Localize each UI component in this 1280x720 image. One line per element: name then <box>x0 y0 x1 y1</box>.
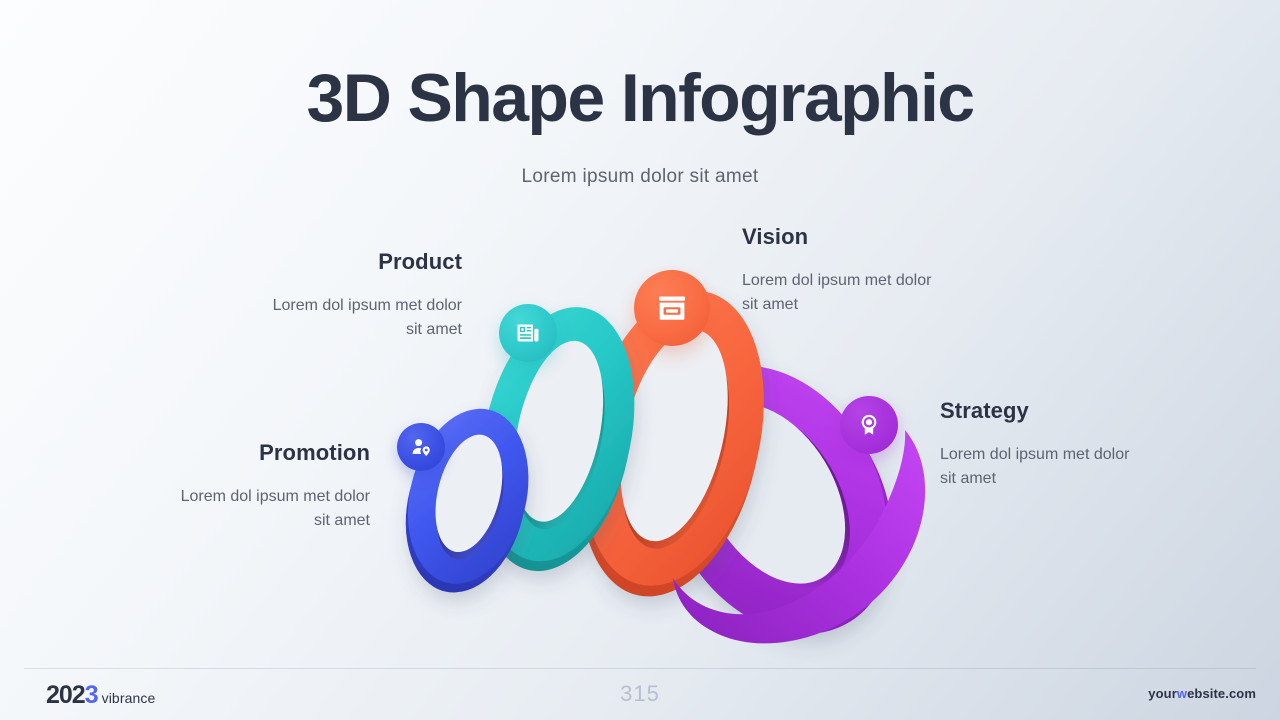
badge-product[interactable] <box>499 304 557 362</box>
callout-product-body: Lorem dol ipsum met dolor sit amet <box>122 294 462 342</box>
page-subtitle: Lorem ipsum dolor sit amet <box>0 163 1280 191</box>
page-title: 3D Shape Infographic <box>0 58 1280 138</box>
badge-vision[interactable] <box>634 270 710 346</box>
award-ribbon-icon <box>855 411 883 439</box>
callout-product-title: Product <box>122 248 462 276</box>
callout-promotion-body: Lorem dol ipsum met dolor sit amet <box>30 485 370 533</box>
website-url[interactable]: yourwebsite.com <box>1148 686 1256 701</box>
callout-strategy: Strategy Lorem dol ipsum met dolor sit a… <box>940 397 1240 491</box>
newspaper-icon <box>514 319 542 347</box>
callout-vision: Vision Lorem dol ipsum met dolor sit ame… <box>742 223 1032 317</box>
callout-promotion: Promotion Lorem dol ipsum met dolor sit … <box>30 439 370 533</box>
callout-strategy-title: Strategy <box>940 397 1240 425</box>
callout-promotion-title: Promotion <box>30 439 370 467</box>
footer-divider <box>24 668 1256 669</box>
callout-vision-body: Lorem dol ipsum met dolor sit amet <box>742 269 1032 317</box>
page-number: 315 <box>0 681 1280 707</box>
ring-product-front-arc <box>483 360 592 574</box>
store-icon <box>654 290 690 326</box>
website-prefix: your <box>1148 686 1177 701</box>
website-suffix: ebsite.com <box>1187 686 1256 701</box>
callout-product: Product Lorem dol ipsum met dolor sit am… <box>122 248 462 342</box>
user-location-icon <box>409 435 433 459</box>
ring-product <box>458 293 657 585</box>
callout-strategy-body: Lorem dol ipsum met dolor sit amet <box>940 443 1240 491</box>
badge-strategy[interactable] <box>840 396 898 454</box>
ring-strategy-front-arc <box>673 430 925 643</box>
slide-canvas: 3D Shape Infographic Lorem ipsum dolor s… <box>0 0 1280 720</box>
website-accent-letter: w <box>1177 686 1187 701</box>
ring-strategy <box>613 324 939 676</box>
badge-promotion[interactable] <box>397 423 445 471</box>
callout-vision-title: Vision <box>742 223 1032 251</box>
